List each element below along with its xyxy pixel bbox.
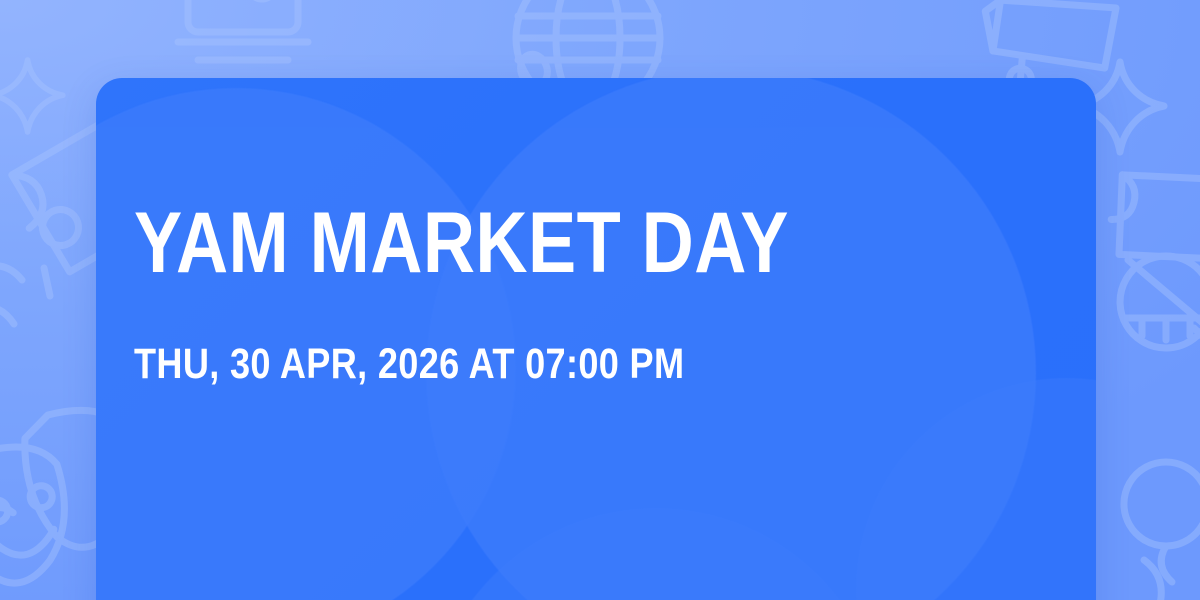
event-datetime: THU, 30 APR, 2026 AT 07:00 PM (134, 343, 684, 386)
sparkle-icon (0, 60, 63, 132)
balloon-icon (1124, 462, 1200, 582)
laptop-presentation-icon (178, 0, 308, 60)
confetti-icon (0, 266, 50, 324)
event-card: YAM MARKET DAY THU, 30 APR, 2026 AT 07:0… (96, 78, 1096, 600)
lantern-icon (1120, 256, 1200, 370)
event-title: YAM MARKET DAY (134, 204, 789, 283)
event-banner: YAM MARKET DAY THU, 30 APR, 2026 AT 07:0… (0, 0, 1200, 600)
event-card-content: YAM MARKET DAY THU, 30 APR, 2026 AT 07:0… (134, 78, 1056, 600)
